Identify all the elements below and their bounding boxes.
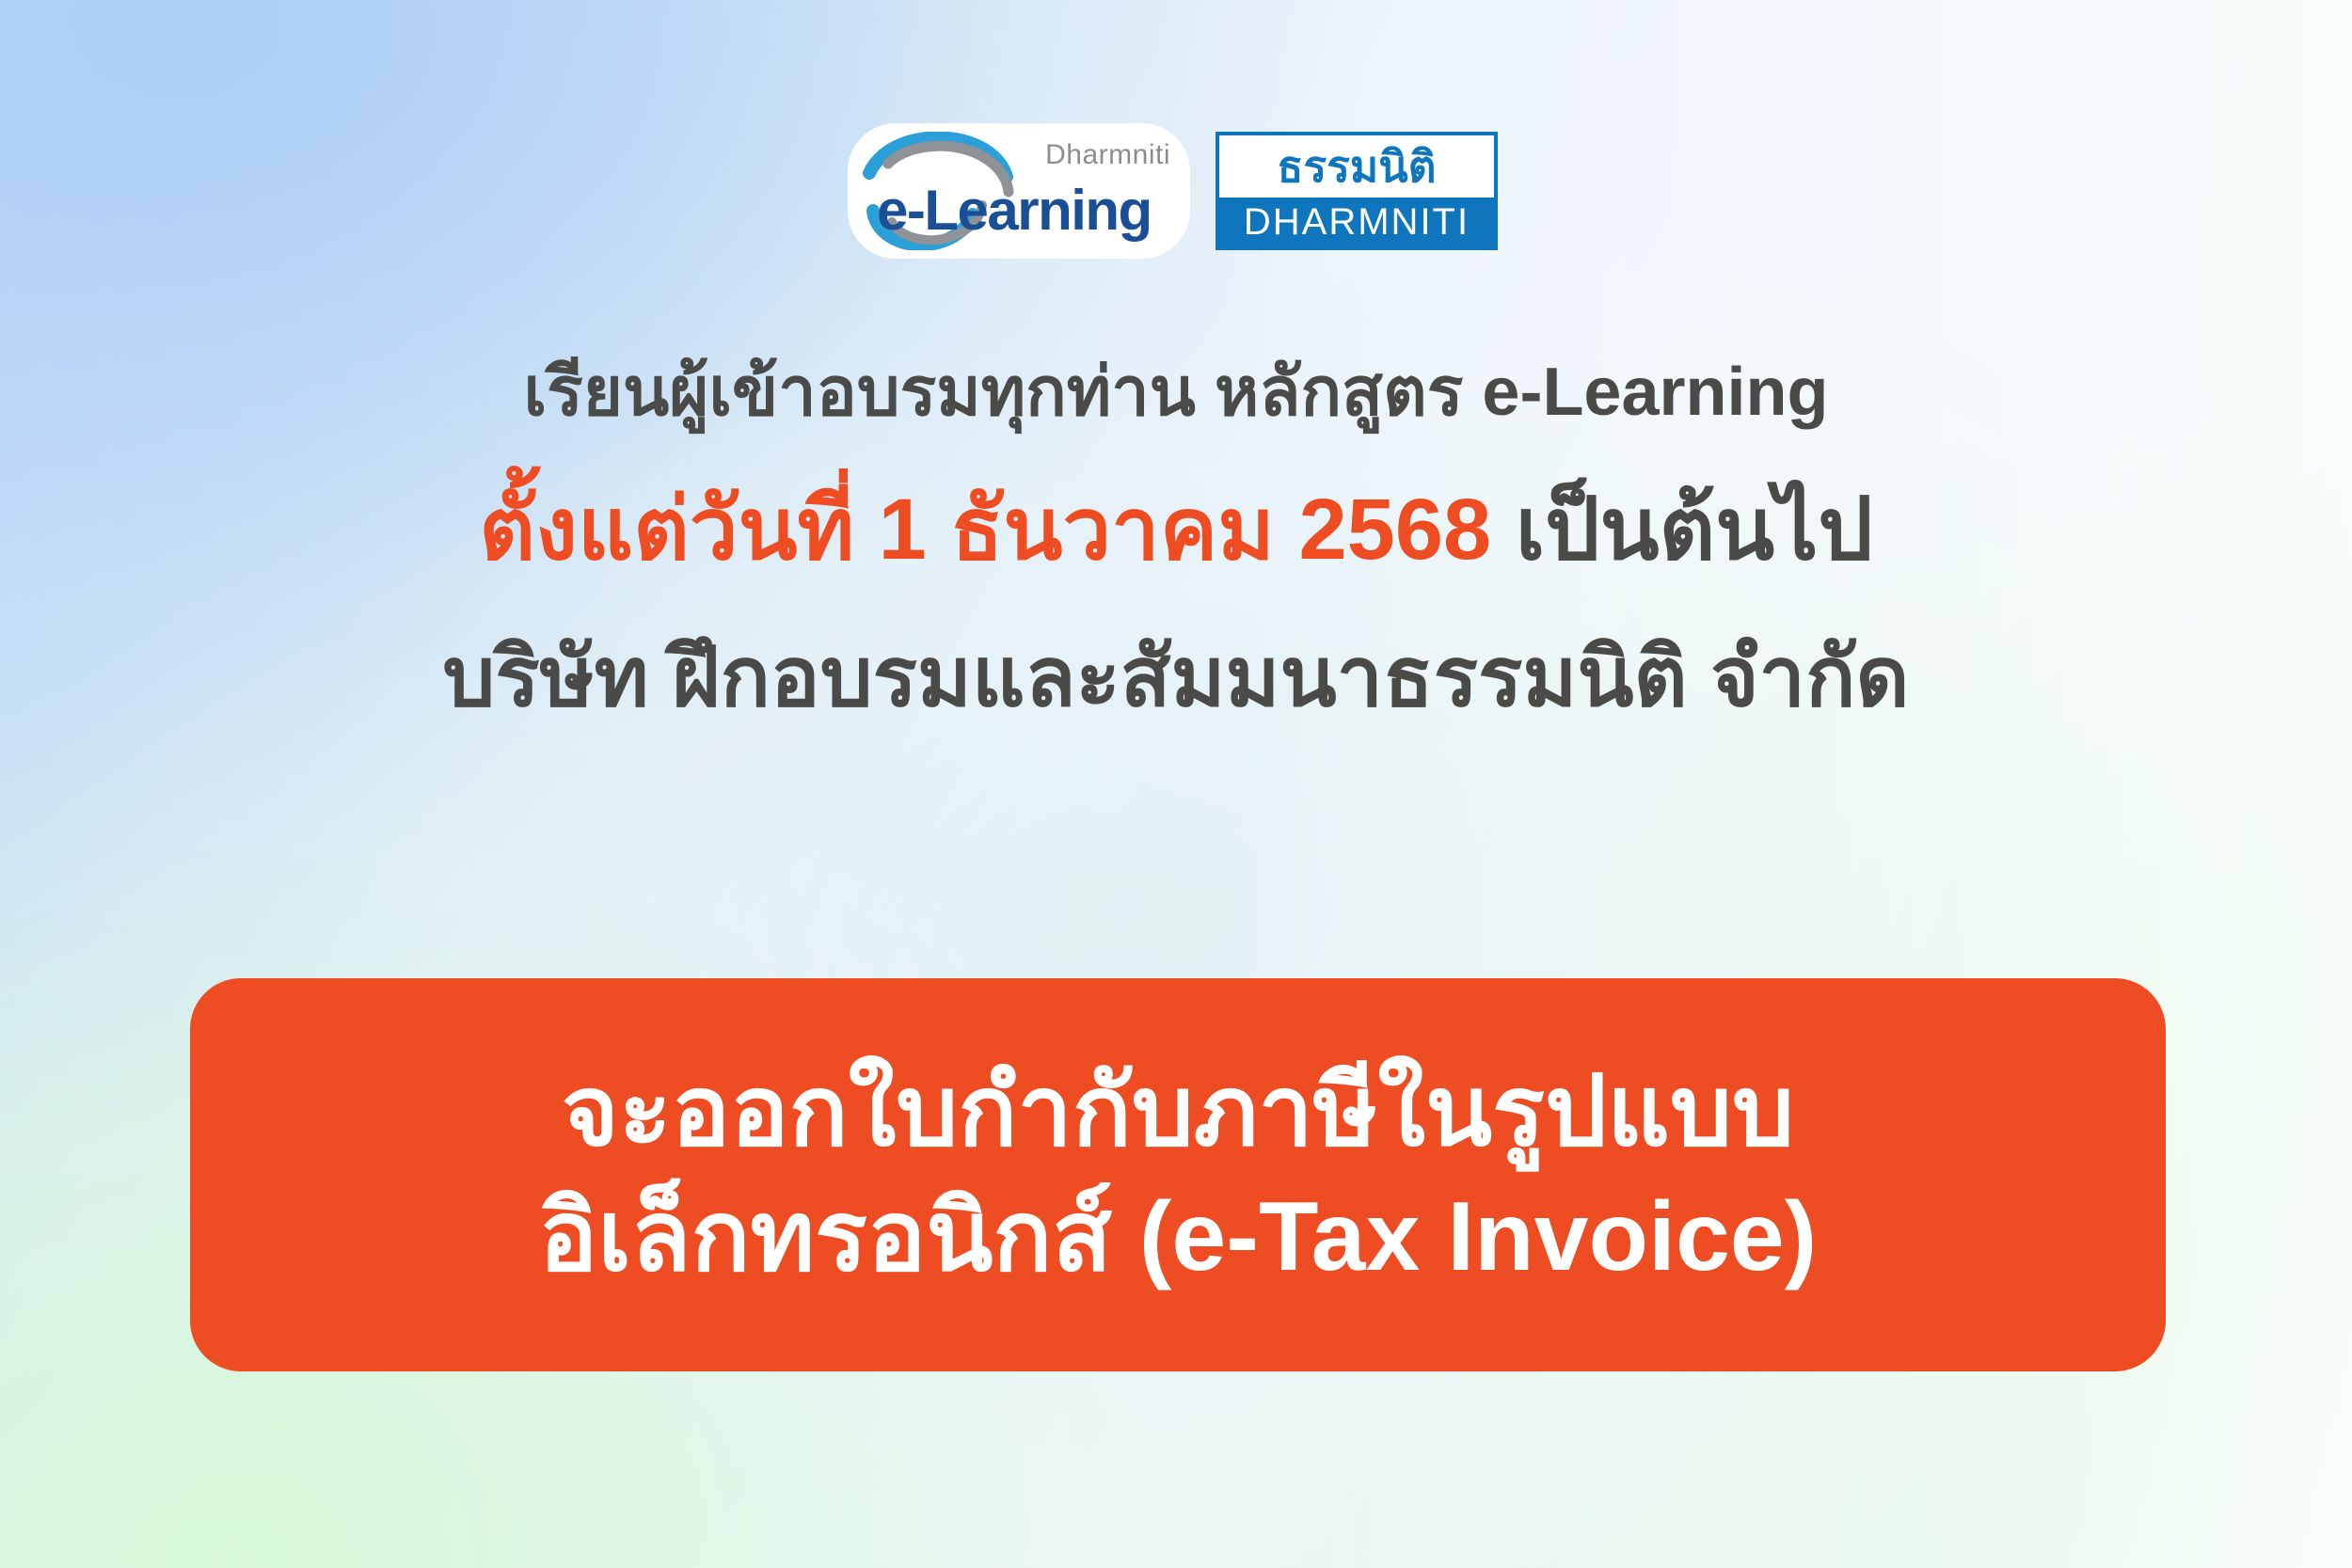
dharmniti-logo: ธรรมนิติ DHARMNITI — [1216, 132, 1498, 250]
callout-line-1: จะออกใบกำกับภาษีในรูปแบบ — [562, 1050, 1794, 1175]
poster-content: Dharmniti e-Learning ธรรมนิติ DHARMNITI … — [0, 0, 2352, 1568]
elearning-logo: Dharmniti e-Learning — [854, 130, 1184, 252]
headline-line-2-highlight: ตั้งแต่วันที่ 1 ธันวาคม 2568 — [479, 482, 1491, 578]
headline-line-2-tail: เป็นต้นไป — [1491, 482, 1873, 578]
callout-line-2: อิเล็กทรอนิกส์ (e-Tax Invoice) — [539, 1175, 1818, 1300]
logo-row: Dharmniti e-Learning ธรรมนิติ DHARMNITI — [0, 130, 2352, 252]
headline-line-2: ตั้งแต่วันที่ 1 ธันวาคม 2568 เป็นต้นไป — [0, 473, 2352, 587]
headline-block: เรียนผู้เข้าอบรมทุกท่าน หลักสูตร e-Learn… — [0, 348, 2352, 733]
elearning-logo-sublabel: Dharmniti — [1045, 141, 1170, 169]
dharmniti-logo-thai-label: ธรรมนิติ — [1219, 135, 1494, 198]
elearning-logo-wordmark: e-Learning — [877, 182, 1152, 239]
callout-box: จะออกใบกำกับภาษีในรูปแบบ อิเล็กทรอนิกส์ … — [190, 978, 2166, 1371]
dharmniti-logo-latin-label: DHARMNITI — [1219, 198, 1494, 246]
poster-canvas: Dharmniti e-Learning ธรรมนิติ DHARMNITI … — [0, 0, 2352, 1568]
headline-line-1: เรียนผู้เข้าอบรมทุกท่าน หลักสูตร e-Learn… — [0, 348, 2352, 437]
headline-line-3: บริษัท ฝึกอบรมและสัมมนาธรรมนิติ จำกัด — [0, 623, 2352, 732]
